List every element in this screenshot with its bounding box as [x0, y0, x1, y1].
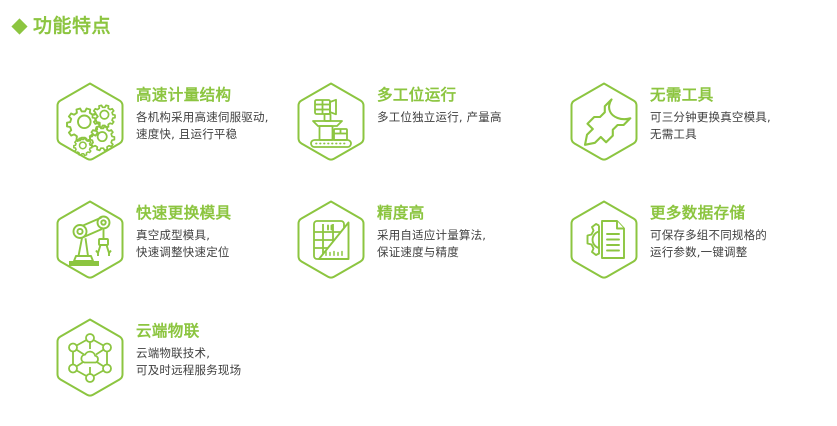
feature-text: 更多数据存储 可保存多组不同规格的 运行参数,一键调整: [642, 190, 767, 261]
wrench-icon: [566, 80, 642, 164]
feature-description: 采用自适应计量算法, 保证速度与精度: [377, 227, 486, 262]
feature-title: 更多数据存储: [650, 204, 767, 223]
feature-title: 高速计量结构: [136, 86, 269, 105]
feature-item-high-speed-metering[interactable]: 高速计量结构 各机构采用高速伺服驱动, 速度快, 且运行平稳: [0, 72, 281, 190]
feature-description: 多工位独立运行, 产量高: [377, 109, 502, 126]
feature-item-multi-station[interactable]: 多工位运行 多工位独立运行, 产量高: [281, 72, 556, 190]
feature-row: 高速计量结构 各机构采用高速伺服驱动, 速度快, 且运行平稳: [0, 72, 837, 190]
feature-row: 快速更换模具 真空成型模具, 快速调整快速定位: [0, 190, 837, 308]
feature-description: 可三分钟更换真空模具, 无需工具: [650, 109, 771, 144]
feature-text: 快速更换模具 真空成型模具, 快速调整快速定位: [128, 190, 231, 261]
gears-icon: [52, 80, 128, 164]
feature-description: 真空成型模具, 快速调整快速定位: [136, 227, 231, 262]
feature-text: 云端物联 云端物联技术, 可及时远程服务现场: [128, 308, 241, 379]
feature-description: 各机构采用高速伺服驱动, 速度快, 且运行平稳: [136, 109, 269, 144]
gear-document-icon: [566, 198, 642, 282]
feature-title: 无需工具: [650, 86, 771, 105]
feature-title: 精度高: [377, 204, 486, 223]
page-title: 功能特点: [33, 17, 111, 36]
feature-item-high-precision[interactable]: 精度高 采用自适应计量算法, 保证速度与精度: [281, 190, 556, 308]
feature-description: 可保存多组不同规格的 运行参数,一键调整: [650, 227, 767, 262]
cloud-network-icon: [52, 316, 128, 400]
feature-item-no-tools[interactable]: 无需工具 可三分钟更换真空模具, 无需工具: [556, 72, 837, 190]
feature-text: 无需工具 可三分钟更换真空模具, 无需工具: [642, 72, 771, 143]
feature-title: 快速更换模具: [136, 204, 231, 223]
feature-row: 云端物联 云端物联技术, 可及时远程服务现场: [0, 308, 837, 426]
feature-title: 云端物联: [136, 322, 241, 341]
diamond-icon: [10, 17, 29, 36]
feature-text: 多工位运行 多工位独立运行, 产量高: [369, 72, 502, 126]
ruler-precision-icon: [293, 198, 369, 282]
feature-title: 多工位运行: [377, 86, 502, 105]
section-header: 功能特点: [10, 17, 111, 36]
feature-item-more-data-storage[interactable]: 更多数据存储 可保存多组不同规格的 运行参数,一键调整: [556, 190, 837, 308]
feature-item-empty: [281, 308, 556, 426]
robot-arm-icon: [52, 198, 128, 282]
feature-grid: 高速计量结构 各机构采用高速伺服驱动, 速度快, 且运行平稳: [0, 72, 837, 426]
feature-text: 高速计量结构 各机构采用高速伺服驱动, 速度快, 且运行平稳: [128, 72, 269, 143]
feature-description: 云端物联技术, 可及时远程服务现场: [136, 345, 241, 380]
feature-item-fast-mold-change[interactable]: 快速更换模具 真空成型模具, 快速调整快速定位: [0, 190, 281, 308]
feature-item-cloud-iot[interactable]: 云端物联 云端物联技术, 可及时远程服务现场: [0, 308, 281, 426]
feature-text: 精度高 采用自适应计量算法, 保证速度与精度: [369, 190, 486, 261]
feature-item-empty: [556, 308, 837, 426]
multi-station-machine-icon: [293, 80, 369, 164]
